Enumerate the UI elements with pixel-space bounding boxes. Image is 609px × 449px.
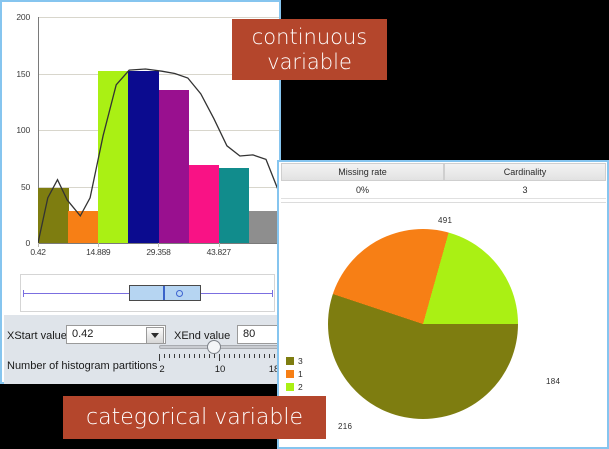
partitions-slider-thumb[interactable] — [207, 340, 221, 354]
slider-tick — [189, 354, 190, 358]
partitions-label: Number of histogram partitions — [7, 360, 157, 372]
y-tick-label: 50 — [6, 182, 30, 192]
slider-tick — [224, 354, 225, 358]
slider-tick — [204, 354, 205, 358]
slider-tick — [199, 354, 200, 358]
xend-label: XEnd value — [174, 330, 230, 342]
xstart-value: 0.42 — [72, 328, 93, 340]
slider-tick — [169, 354, 170, 358]
slider-tick — [239, 354, 240, 358]
chevron-down-icon[interactable] — [146, 327, 164, 344]
histogram-controls: XStart value 0.42 XEnd value 80 Number o… — [4, 315, 281, 384]
annotation-continuous-line1: continuous — [252, 25, 368, 50]
slider-tick — [209, 354, 210, 358]
pie-legend: 312 — [286, 356, 303, 395]
pie-label-491: 491 — [438, 216, 452, 225]
slider-tick — [244, 354, 245, 358]
slider-tick — [194, 354, 195, 358]
y-tick-label: 150 — [6, 69, 30, 79]
legend-label: 3 — [298, 356, 303, 366]
pie-label-184: 184 — [546, 377, 560, 386]
x-tick-label: 14.889 — [76, 247, 120, 257]
annotation-categorical-variable: categorical variable — [63, 396, 326, 439]
slider-tick — [249, 354, 250, 358]
slider-tick — [174, 354, 175, 358]
xstart-combobox[interactable]: 0.42 — [66, 325, 166, 344]
pie-chart: 491 216 184 312 — [281, 204, 606, 447]
boxplot-box-handle[interactable] — [129, 285, 201, 301]
range-boxplot-slider[interactable] — [20, 274, 275, 312]
xstart-label: XStart value — [7, 330, 67, 342]
column-header-missing-rate[interactable]: Missing rate — [281, 163, 444, 181]
pie-label-216: 216 — [338, 422, 352, 431]
slider-tick — [259, 354, 260, 358]
x-tick-label: 43.827 — [197, 247, 241, 257]
y-tick-label: 200 — [6, 12, 30, 22]
column-header-cardinality[interactable]: Cardinality — [444, 163, 606, 181]
table-separator — [281, 202, 606, 203]
slider-tick — [264, 354, 265, 358]
categorical-variable-panel: Missing rate Cardinality 0% 3 491 216 18… — [277, 160, 609, 449]
boxplot-handle-knob[interactable] — [176, 290, 183, 297]
slider-tick — [219, 354, 220, 361]
annotation-continuous-variable: continuous variable — [232, 19, 387, 80]
boxplot-median-line — [163, 286, 165, 300]
screenshot-root: 050100150200 0.4214.88929.35843.827 XSta… — [0, 0, 609, 449]
pie-slices[interactable] — [328, 229, 518, 419]
cell-cardinality: 3 — [444, 181, 606, 199]
legend-item[interactable]: 1 — [286, 369, 303, 379]
slider-tick — [179, 354, 180, 358]
legend-label: 1 — [298, 369, 303, 379]
legend-label: 2 — [298, 382, 303, 392]
slider-tick — [274, 354, 275, 358]
y-tick-label: 100 — [6, 125, 30, 135]
slider-tick — [214, 354, 215, 358]
legend-swatch — [286, 383, 294, 391]
partitions-slider-ticks — [159, 354, 281, 362]
slider-tick — [234, 354, 235, 358]
slider-tick — [269, 354, 270, 358]
partitions-tick-min: 2 — [150, 364, 174, 375]
legend-swatch — [286, 357, 294, 365]
annotation-continuous-line2: variable — [252, 50, 368, 75]
slider-tick — [159, 354, 160, 361]
cell-missing-rate: 0% — [281, 181, 444, 199]
x-tick-label: 29.358 — [136, 247, 180, 257]
x-tick-label: 0.42 — [16, 247, 60, 257]
slider-tick — [229, 354, 230, 358]
legend-item[interactable]: 3 — [286, 356, 303, 366]
legend-swatch — [286, 370, 294, 378]
slider-tick — [184, 354, 185, 358]
legend-item[interactable]: 2 — [286, 382, 303, 392]
slider-tick — [164, 354, 165, 358]
xend-value: 80 — [243, 328, 255, 340]
stats-table: Missing rate Cardinality 0% 3 — [281, 163, 606, 202]
partitions-tick-mid: 10 — [208, 364, 232, 375]
slider-tick — [254, 354, 255, 358]
